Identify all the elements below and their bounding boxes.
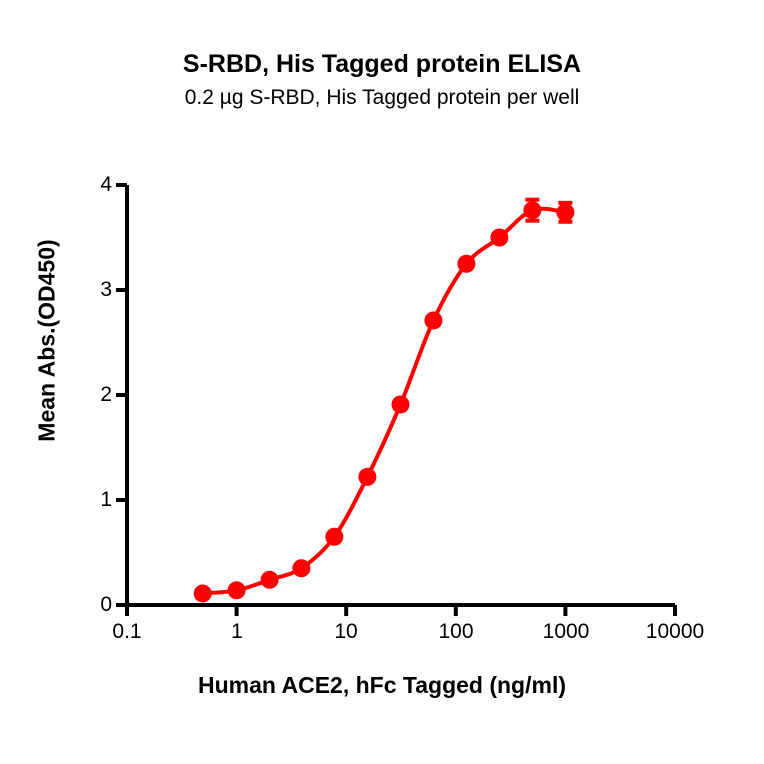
plot-area bbox=[0, 0, 764, 764]
elisa-chart-figure: S-RBD, His Tagged protein ELISA 0.2 µg S… bbox=[0, 0, 764, 764]
data-point-marker bbox=[424, 311, 442, 329]
data-point-marker bbox=[194, 584, 212, 602]
data-point-marker bbox=[358, 468, 376, 486]
data-series-group bbox=[194, 200, 575, 603]
data-point-marker bbox=[392, 395, 410, 413]
data-point-marker bbox=[325, 528, 343, 546]
fit-curve bbox=[203, 209, 566, 594]
data-point-marker bbox=[457, 255, 475, 273]
data-point-markers bbox=[194, 201, 575, 602]
data-point-marker bbox=[261, 571, 279, 589]
data-point-marker bbox=[523, 201, 541, 219]
data-point-marker bbox=[228, 581, 246, 599]
data-point-marker bbox=[490, 229, 508, 247]
data-point-marker bbox=[292, 559, 310, 577]
data-point-marker bbox=[556, 203, 574, 221]
